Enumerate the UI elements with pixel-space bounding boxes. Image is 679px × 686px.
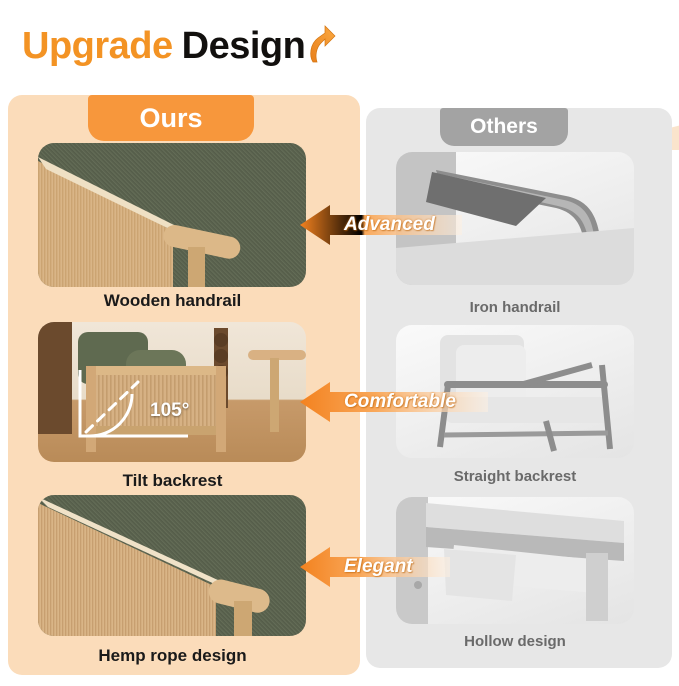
- photo-iron-handrail: [396, 152, 634, 285]
- photo-hemp-rope-design: [38, 495, 306, 636]
- photo-wooden-handrail: [38, 143, 306, 287]
- angle-annotation-105: 105°: [76, 360, 216, 452]
- ours-badge: Ours: [88, 95, 254, 141]
- ours-badge-label: Ours: [139, 103, 202, 134]
- photo-hollow-design: [396, 497, 634, 624]
- others-badge: Others: [440, 108, 568, 146]
- caption-hollow-design: Hollow design: [382, 633, 648, 650]
- others-badge-label: Others: [470, 115, 538, 139]
- page-title: Upgrade Design: [22, 20, 341, 72]
- caption-iron-handrail: Iron handrail: [382, 299, 648, 316]
- caption-straight-backrest: Straight backrest: [382, 468, 648, 485]
- photo-straight-backrest: [396, 325, 634, 458]
- curved-up-arrow-icon: [307, 18, 341, 66]
- caption-wooden-handrail: Wooden handrail: [20, 291, 325, 311]
- caption-tilt-backrest: Tilt backrest: [20, 471, 325, 491]
- title-word-design: Design: [182, 27, 306, 65]
- caption-hemp-rope-design: Hemp rope design: [20, 646, 325, 666]
- photo-tilt-backrest: 105°: [38, 322, 306, 462]
- angle-value-text: 105°: [150, 400, 189, 422]
- title-word-upgrade: Upgrade: [22, 27, 173, 65]
